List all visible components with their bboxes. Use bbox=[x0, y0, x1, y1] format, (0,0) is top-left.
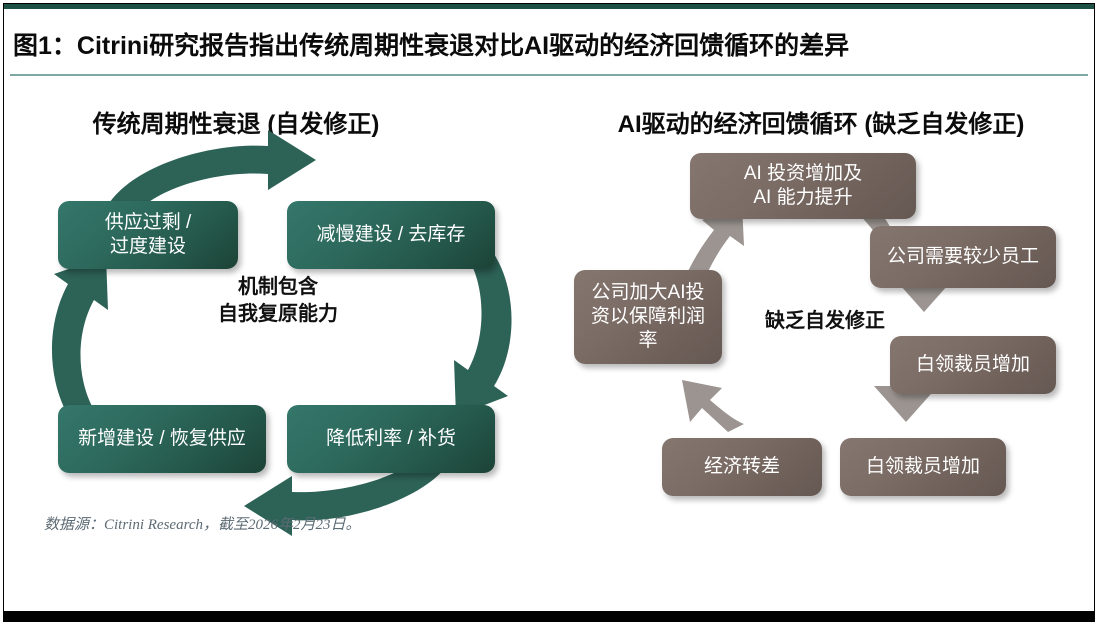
top-accent-bar bbox=[4, 4, 1094, 9]
figure-title: 图1：Citrini研究报告指出传统周期性衰退对比AI驱动的经济回馈循环的差异 bbox=[13, 26, 1085, 62]
right-node-layoffs-1[interactable]: 白领裁员增加 bbox=[890, 336, 1056, 394]
right-node-economy-worse[interactable]: 经济转差 bbox=[662, 438, 822, 496]
figure-footnote: 数据源：Citrini Research，截至2026年2月23日。 bbox=[44, 513, 361, 534]
right-center-caption: 缺乏自发修正 bbox=[740, 308, 910, 335]
left-diagram-panel: 传统周期性衰退 (自发修正) 供应过剩 / 过度建设 减慢建设 / 去库存 降低… bbox=[10, 80, 550, 550]
right-node-ai-investment[interactable]: AI 投资增加及 AI 能力提升 bbox=[690, 153, 916, 219]
bottom-bar bbox=[4, 611, 1094, 621]
left-node-rate-cut[interactable]: 降低利率 / 补货 bbox=[287, 405, 495, 473]
right-node-more-ai-invest[interactable]: 公司加大AI投 资以保障利润 率 bbox=[574, 270, 722, 364]
left-center-caption: 机制包含 自我复原能力 bbox=[183, 274, 373, 328]
right-node-fewer-staff[interactable]: 公司需要较少员工 bbox=[870, 226, 1056, 288]
left-node-new-build[interactable]: 新增建设 / 恢复供应 bbox=[58, 405, 266, 473]
right-diagram-panel: AI驱动的经济回馈循环 (缺乏自发修正) AI 投资增加及 AI 能力提升 bbox=[552, 80, 1090, 550]
title-divider bbox=[10, 74, 1088, 76]
arrow-bottom-left bbox=[682, 380, 744, 432]
arrow-right bbox=[454, 248, 512, 416]
arrow-left bbox=[52, 256, 108, 422]
figure-page: 图1：Citrini研究报告指出传统周期性衰退对比AI驱动的经济回馈循环的差异 … bbox=[3, 3, 1095, 622]
right-node-layoffs-2[interactable]: 白领裁员增加 bbox=[840, 438, 1006, 496]
left-node-oversupply[interactable]: 供应过剩 / 过度建设 bbox=[58, 201, 238, 269]
left-node-slow-build[interactable]: 减慢建设 / 去库存 bbox=[287, 201, 495, 269]
